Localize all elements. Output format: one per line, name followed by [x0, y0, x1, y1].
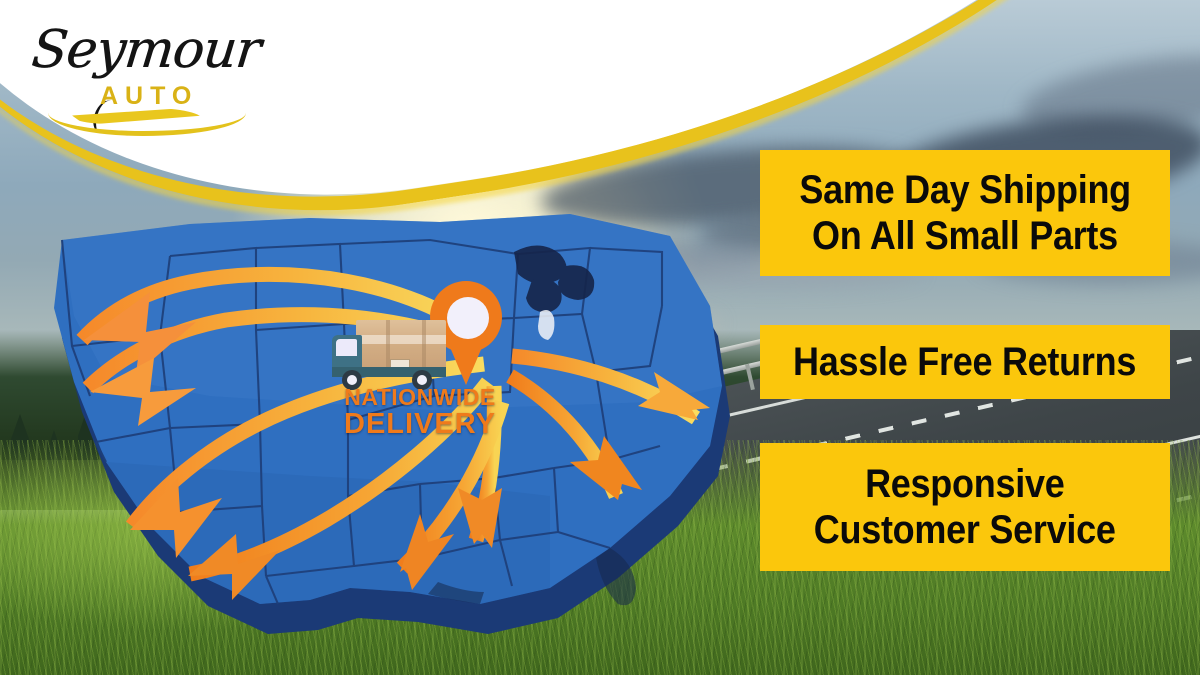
callout-line: Customer Service [814, 507, 1116, 553]
callout-hassle-free-returns[interactable]: Hassle Free Returns [760, 325, 1170, 399]
truck-box-seam [422, 320, 426, 373]
callout-responsive-customer-service[interactable]: Responsive Customer Service [760, 443, 1170, 571]
nationwide-delivery-text: NATIONWIDE DELIVERY [330, 385, 510, 440]
callout-line: Responsive [865, 461, 1064, 507]
map-pin-hole [447, 297, 489, 339]
map-pin-tip [444, 333, 488, 385]
truck-window [336, 339, 357, 356]
promo-banner: Seymour AUTO [0, 0, 1200, 675]
truck-box-tape [356, 335, 446, 344]
badge-line-2: DELIVERY [330, 409, 510, 440]
brand-logo[interactable]: Seymour AUTO [28, 16, 258, 126]
callout-line: Hassle Free Returns [793, 339, 1136, 385]
nationwide-delivery-badge: NATIONWIDE DELIVERY [330, 275, 510, 445]
logo-wordmark-script: Seymour [29, 20, 263, 80]
callout-line: Same Day Shipping [799, 167, 1130, 213]
callout-line: On All Small Parts [812, 213, 1118, 259]
logo-wordmark-auto: AUTO [100, 82, 198, 111]
badge-line-1: NATIONWIDE [330, 385, 510, 409]
callout-same-day-shipping[interactable]: Same Day Shipping On All Small Parts [760, 150, 1170, 276]
